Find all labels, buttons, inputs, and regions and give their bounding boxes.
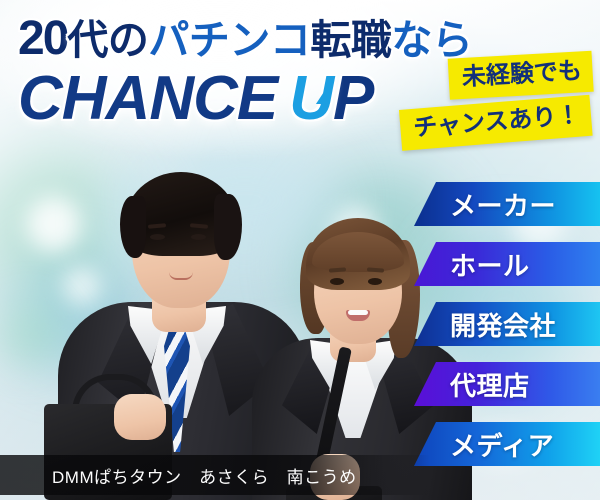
category-label-maker: メーカー bbox=[450, 186, 556, 223]
woman-eye-right bbox=[368, 278, 382, 285]
headline-keyword-pachinko: パチンコ bbox=[148, 17, 310, 63]
category-label-hall: ホール bbox=[450, 246, 530, 283]
woman-eye-left bbox=[330, 278, 344, 285]
headline-age-number: 20 bbox=[18, 12, 67, 65]
category-label-developer: 開発会社 bbox=[450, 306, 556, 343]
caption-text: DMMぱちタウン あさくら 南こうめ bbox=[52, 463, 357, 488]
brand-logo-chance: CHANCE bbox=[18, 64, 277, 133]
badge-inexperienced-ok: 未経験でも チャンスあり！ bbox=[400, 51, 596, 149]
man-eye-left bbox=[150, 234, 165, 240]
headline-line-1: 20代のパチンコ転職なら bbox=[18, 14, 448, 65]
recruitment-banner[interactable]: 20代のパチンコ転職なら CHANCEUP 未経験でも チャンスあり！ メーカー… bbox=[0, 0, 600, 500]
man-hand bbox=[114, 394, 166, 440]
woman-teeth bbox=[348, 310, 368, 315]
headline-line1-end: なら bbox=[391, 17, 472, 63]
badge-line-1: 未経験でも bbox=[448, 51, 594, 100]
brand-logo-up: UP bbox=[289, 64, 373, 133]
man-hair-side-right bbox=[214, 194, 242, 260]
category-button-hall[interactable]: ホール bbox=[414, 242, 600, 286]
category-button-maker[interactable]: メーカー bbox=[414, 182, 600, 226]
brand-logo: CHANCEUP bbox=[18, 67, 448, 130]
category-button-media[interactable]: メディア bbox=[414, 422, 600, 466]
man-eye-right bbox=[191, 234, 206, 240]
category-button-developer[interactable]: 開発会社 bbox=[414, 302, 600, 346]
brand-logo-p: P bbox=[333, 64, 373, 133]
category-button-agency[interactable]: 代理店 bbox=[414, 362, 600, 406]
headline-block: 20代のパチンコ転職なら CHANCEUP bbox=[18, 14, 448, 130]
category-list: メーカー ホール 開発会社 代理店 メディア bbox=[414, 182, 600, 482]
headline-keyword-tenshoku: 転職 bbox=[310, 17, 391, 63]
category-label-media: メディア bbox=[450, 426, 554, 463]
man-hair-side-left bbox=[120, 196, 146, 258]
headline-line1-rest: 代の bbox=[67, 17, 148, 63]
caption-bar: DMMぱちタウン あさくら 南こうめ bbox=[0, 455, 430, 495]
category-label-agency: 代理店 bbox=[450, 366, 530, 403]
